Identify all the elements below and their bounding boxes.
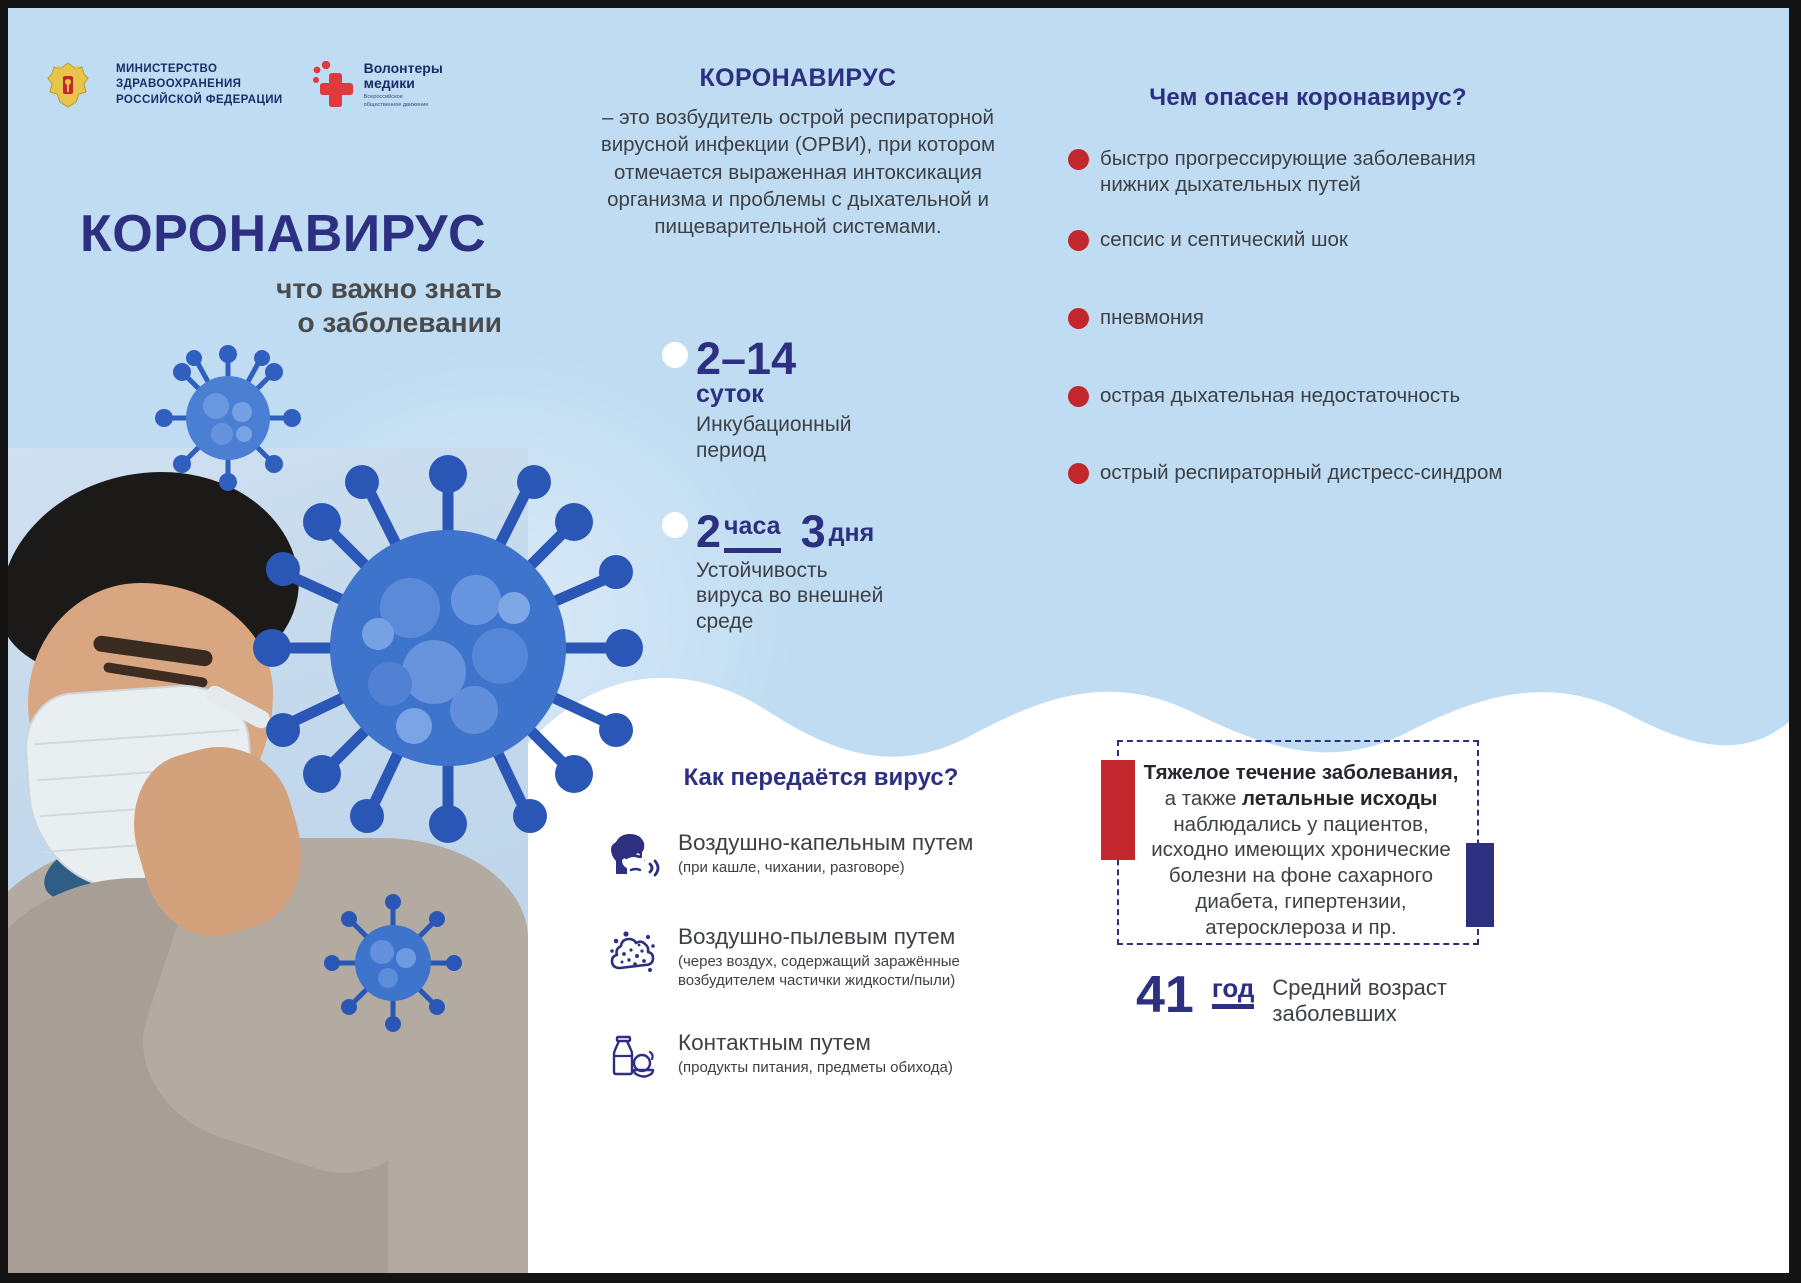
definition-heading: КОРОНАВИРУС <box>568 64 1028 93</box>
average-age-unit: год <box>1212 975 1255 1009</box>
ministry-name: МИНИСТЕРСТВО ЗДРАВООХРАНЕНИЯ РОССИЙСКОЙ … <box>116 62 283 109</box>
definition-body: – это возбудитель острой респираторной в… <box>568 104 1028 240</box>
danger-bullet-icon <box>1068 386 1089 407</box>
infographic-poster: МИНИСТЕРСТВО ЗДРАВООХРАНЕНИЯ РОССИЙСКОЙ … <box>0 0 1801 1283</box>
red-cross-plus-icon <box>309 61 355 109</box>
danger-item-1: быстро прогрессирующие заболевания нижни… <box>1068 146 1548 197</box>
frame-edge-top <box>0 0 1801 8</box>
stat-incubation-period: 2–14 суток Инкубационный период <box>696 338 852 463</box>
note-text-bold: летальные исходы <box>1242 787 1437 810</box>
page-subtitle-line-1: что важно знать <box>80 272 502 306</box>
transmission-item-1-detail: (при кашле, чихании, разговоре) <box>678 859 973 878</box>
ministry-line-2: ЗДРАВООХРАНЕНИЯ <box>116 77 283 93</box>
danger-item-4-text: острая дыхательная недостаточность <box>1100 384 1460 407</box>
virus-particle-large <box>238 438 658 858</box>
transmission-item-2-detail: (через воздух, содержащий заражённые воз… <box>678 953 1036 991</box>
ministry-line-3: РОССИЙСКОЙ ФЕДЕРАЦИИ <box>116 93 283 109</box>
stat-incubation-unit: суток <box>696 381 852 407</box>
stability-desc-3: среде <box>696 609 883 635</box>
danger-item-5: острый респираторный дистресс-синдром <box>1068 460 1548 486</box>
russian-coat-of-arms-emblem <box>46 60 90 110</box>
note-red-accent-bar <box>1101 760 1135 860</box>
stat-incubation-desc-1: Инкубационный <box>696 412 852 438</box>
transmission-item-2-text: Воздушно-пылевым путем (через воздух, со… <box>678 924 1036 990</box>
transmission-heading: Как передаётся вирус? <box>606 764 1036 792</box>
stability-num-2: 3 <box>801 512 826 553</box>
page-title: КОРОНАВИРУС <box>80 208 510 260</box>
danger-item-2: сепсис и септический шок <box>1068 227 1548 253</box>
ministry-line-1: МИНИСТЕРСТВО <box>116 62 283 78</box>
transmission-item-3: Контактным путем (продукты питания, пред… <box>606 1030 1036 1084</box>
danger-item-5-text: острый респираторный дистресс-синдром <box>1100 461 1503 484</box>
danger-bullet-icon <box>1068 230 1089 251</box>
danger-item-1-text: быстро прогрессирующие заболевания нижни… <box>1100 147 1476 196</box>
stat-incubation-desc: Инкубационный период <box>696 412 852 463</box>
food-groceries-icon <box>606 1030 660 1084</box>
stability-value-row: 2 часа 3 дня <box>696 508 883 553</box>
danger-bullet-icon <box>1068 308 1089 329</box>
transmission-item-2-title: Воздушно-пылевым путем <box>678 924 1036 950</box>
stat-bullet-dot <box>662 342 688 368</box>
volunteers-sub-2: общественное движение <box>364 102 429 108</box>
stat-incubation-value: 2–14 <box>696 338 852 381</box>
volunteers-line-1: Волонтеры <box>364 61 443 76</box>
danger-item-4: острая дыхательная недостаточность <box>1068 383 1548 409</box>
average-age-number: 41 <box>1136 971 1194 1020</box>
volunteers-sub-1: Всероссийское <box>364 94 403 100</box>
average-age-label-2: заболевших <box>1272 1001 1396 1026</box>
note-text-part-1: Тяжелое течение заболевания, <box>1144 761 1459 784</box>
dangers-heading: Чем опасен коронавирус? <box>1068 84 1548 112</box>
page-subtitle-line-2: о заболевании <box>80 306 502 340</box>
stat-virus-stability: 2 часа 3 дня Устойчивость вируса во внеш… <box>696 508 883 634</box>
note-text-part-3: наблюдались у пациентов, исходно имеющих… <box>1151 813 1451 939</box>
transmission-item-2: Воздушно-пылевым путем (через воздух, со… <box>606 924 1036 990</box>
note-text: Тяжелое течение заболевания, а также лет… <box>1141 760 1461 941</box>
page-title-block: КОРОНАВИРУС что важно знать о заболевани… <box>80 208 510 339</box>
stability-desc-1: Устойчивость <box>696 558 883 584</box>
average-age-block: 41 год Средний возраст заболевших <box>1136 971 1447 1028</box>
transmission-item-3-title: Контактным путем <box>678 1030 953 1056</box>
head-coughing-icon <box>606 830 660 884</box>
transmission-block: Как передаётся вирус? Воздушно-капельным… <box>606 764 1036 1124</box>
note-blue-accent-bar <box>1466 843 1494 927</box>
transmission-item-3-detail: (продукты питания, предметы обихода) <box>678 1059 953 1078</box>
transmission-item-1-title: Воздушно-капельным путем <box>678 830 973 856</box>
dangers-block: Чем опасен коронавирус? быстро прогресси… <box>1068 84 1548 516</box>
frame-edge-right <box>1789 0 1801 1283</box>
danger-bullet-icon <box>1068 149 1089 170</box>
stability-unit-2: дня <box>829 515 875 553</box>
average-age-label-1: Средний возраст <box>1272 975 1447 1000</box>
note-text-part-2: а также <box>1165 787 1242 810</box>
virus-particle-small-bottom <box>318 888 468 1038</box>
danger-item-2-text: сепсис и септический шок <box>1100 228 1348 251</box>
header-logos: МИНИСТЕРСТВО ЗДРАВООХРАНЕНИЯ РОССИЙСКОЙ … <box>46 60 443 110</box>
danger-item-3: пневмония <box>1068 305 1548 331</box>
stability-desc-2: вируса во внешней <box>696 583 883 609</box>
dust-cloud-icon <box>606 924 660 978</box>
stat-bullet-dot-2 <box>662 512 688 538</box>
stat-incubation-desc-2: период <box>696 438 852 464</box>
volunteers-logo-block: Волонтеры медики Всероссийское обществен… <box>309 61 443 110</box>
volunteers-line-2: медики <box>364 76 443 91</box>
transmission-item-3-text: Контактным путем (продукты питания, пред… <box>678 1030 953 1078</box>
danger-item-3-text: пневмония <box>1100 306 1204 329</box>
severe-course-note: Тяжелое течение заболевания, а также лет… <box>1117 740 1479 945</box>
volunteers-text: Волонтеры медики Всероссийское обществен… <box>364 61 443 110</box>
frame-edge-left <box>0 0 8 1283</box>
page-subtitle: что важно знать о заболевании <box>80 272 510 339</box>
volunteers-subtitle: Всероссийское общественное движение <box>364 94 443 110</box>
stability-num-1: 2 <box>696 512 721 553</box>
average-age-label: Средний возраст заболевших <box>1272 975 1447 1028</box>
transmission-item-1-text: Воздушно-капельным путем (при кашле, чих… <box>678 830 973 878</box>
stability-unit-1: часа <box>724 508 781 553</box>
danger-bullet-icon <box>1068 463 1089 484</box>
transmission-item-1: Воздушно-капельным путем (при кашле, чих… <box>606 830 1036 884</box>
frame-edge-bottom <box>0 1273 1801 1283</box>
definition-block: КОРОНАВИРУС – это возбудитель острой рес… <box>568 64 1028 240</box>
poster-canvas: МИНИСТЕРСТВО ЗДРАВООХРАНЕНИЯ РОССИЙСКОЙ … <box>8 8 1789 1273</box>
stability-desc: Устойчивость вируса во внешней среде <box>696 558 883 635</box>
